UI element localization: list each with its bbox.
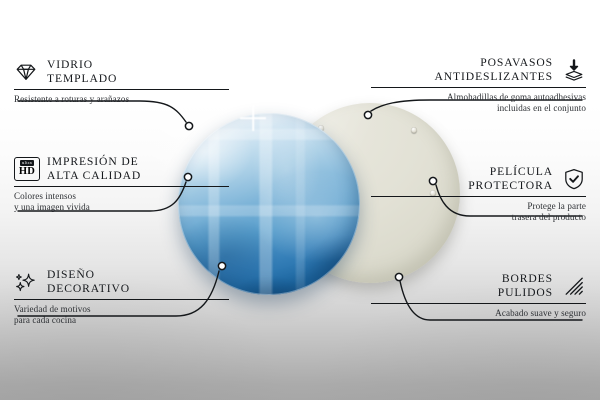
feature-title: IMPRESIÓN DE ALTA CALIDAD [47, 155, 141, 183]
feature-title: PELÍCULA PROTECTORA [468, 165, 553, 193]
divider [14, 299, 229, 300]
feature-header: VIDRIO TEMPLADO [14, 58, 229, 86]
feature-impresion-alta-calidad: ultra HD IMPRESIÓN DE ALTA CALIDAD Color… [14, 155, 229, 214]
feature-header: BORDES PULIDOS [371, 272, 586, 300]
divider [371, 196, 586, 197]
divider [371, 303, 586, 304]
shield-check-icon [562, 167, 586, 191]
feature-description: Almohadillas de goma autoadhesivas inclu… [371, 92, 586, 115]
feature-description: Resistente a roturas y arañazos [14, 94, 229, 105]
diagonal-lines-icon [562, 274, 586, 298]
feature-title: VIDRIO TEMPLADO [47, 58, 117, 86]
feature-title: BORDES PULIDOS [498, 272, 553, 300]
feature-header: ultra HD IMPRESIÓN DE ALTA CALIDAD [14, 155, 229, 183]
divider [14, 89, 229, 90]
ultra-hd-badge-icon: ultra HD [14, 157, 38, 181]
feature-description: Variedad de motivos para cada cocina [14, 304, 229, 327]
divider [14, 186, 229, 187]
diamond-icon [14, 60, 38, 84]
feature-title: DISEÑO DECORATIVO [47, 268, 130, 296]
feature-description: Protege la parte trasera del producto [371, 201, 586, 224]
feature-vidrio-templado: VIDRIO TEMPLADO Resistente a roturas y a… [14, 58, 229, 105]
divider [371, 87, 586, 88]
feature-header: DISEÑO DECORATIVO [14, 268, 229, 296]
ultra-hd-badge-main-label: HD [19, 167, 35, 178]
feature-pelicula-protectora: PELÍCULA PROTECTORA Protege la parte tra… [371, 165, 586, 224]
feature-bordes-pulidos: BORDES PULIDOS Acabado suave y seguro [371, 272, 586, 319]
feature-header: PELÍCULA PROTECTORA [371, 165, 586, 193]
sparkles-icon [14, 270, 38, 294]
feature-description: Colores intensos y una imagen vivida [14, 191, 229, 214]
press-pad-down-arrow-icon [562, 58, 586, 82]
feature-posavasos-antideslizantes: POSAVASOS ANTIDESLIZANTES Almohadillas d… [371, 56, 586, 115]
rubber-pad [411, 127, 417, 133]
feature-title: POSAVASOS ANTIDESLIZANTES [435, 56, 553, 84]
feature-header: POSAVASOS ANTIDESLIZANTES [371, 56, 586, 84]
feature-diseno-decorativo: DISEÑO DECORATIVO Variedad de motivos pa… [14, 268, 229, 327]
feature-description: Acabado suave y seguro [371, 308, 586, 319]
infographic-canvas: VIDRIO TEMPLADO Resistente a roturas y a… [0, 0, 600, 400]
